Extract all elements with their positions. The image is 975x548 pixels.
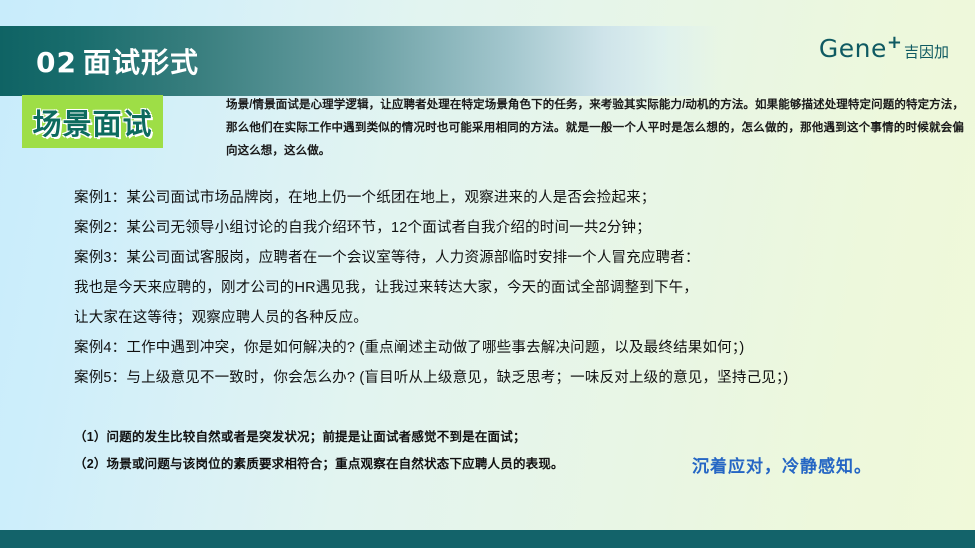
list-item: 案例5：与上级意见不一致时，你会怎么办? (盲目听从上级意见，缺乏思考；一味反对… [74, 363, 944, 393]
logo-wordmark: Gene [819, 36, 887, 61]
summary-list: （1）问题的发生比较自然或者是突发状况；前提是让面试者感觉不到是在面试； （2）… [74, 424, 714, 478]
section-title: 面试形式 [83, 47, 199, 78]
slide: 02面试形式 Gene + 吉因加 场景面试 场景/情景面试是心理学逻辑，让应聘… [0, 0, 975, 548]
list-item: 让大家在这等待；观察应聘人员的各种反应。 [74, 303, 944, 333]
section-tag-box: 场景面试 [22, 95, 163, 148]
list-item: 案例3：某公司面试客服岗，应聘者在一个会议室等待，人力资源部临时安排一个人冒充应… [74, 243, 944, 273]
list-item: 我也是今天来应聘的，刚才公司的HR遇见我，让我过来转达大家，今天的面试全部调整到… [74, 273, 944, 303]
logo-plus-icon: + [887, 34, 902, 52]
section-tag-label: 场景面试 [22, 95, 163, 148]
footer-bar [0, 530, 975, 548]
page-title: 02面试形式 [36, 41, 199, 81]
slogan-text: 沉着应对，冷静感知。 [692, 452, 872, 477]
summary-item: （2）场景或问题与该岗位的素质要求相符合；重点观察在自然状态下应聘人员的表现。 [74, 451, 714, 478]
brand-logo: Gene + 吉因加 [819, 36, 949, 61]
list-item: 案例4：工作中遇到冲突，你是如何解决的? (重点阐述主动做了哪些事去解决问题，以… [74, 333, 944, 363]
section-number: 02 [36, 46, 77, 79]
summary-item: （1）问题的发生比较自然或者是突发状况；前提是让面试者感觉不到是在面试； [74, 424, 714, 451]
list-item: 案例1：某公司面试市场品牌岗，在地上仍一个纸团在地上，观察进来的人是否会捡起来； [74, 183, 944, 213]
logo-chinese-name: 吉因加 [904, 45, 949, 60]
intro-paragraph: 场景/情景面试是心理学逻辑，让应聘者处理在特定场景角色下的任务，来考验其实际能力… [226, 94, 964, 163]
case-list: 案例1：某公司面试市场品牌岗，在地上仍一个纸团在地上，观察进来的人是否会捡起来；… [74, 183, 944, 393]
list-item: 案例2：某公司无领导小组讨论的自我介绍环节，12个面试者自我介绍的时间一共2分钟… [74, 213, 944, 243]
